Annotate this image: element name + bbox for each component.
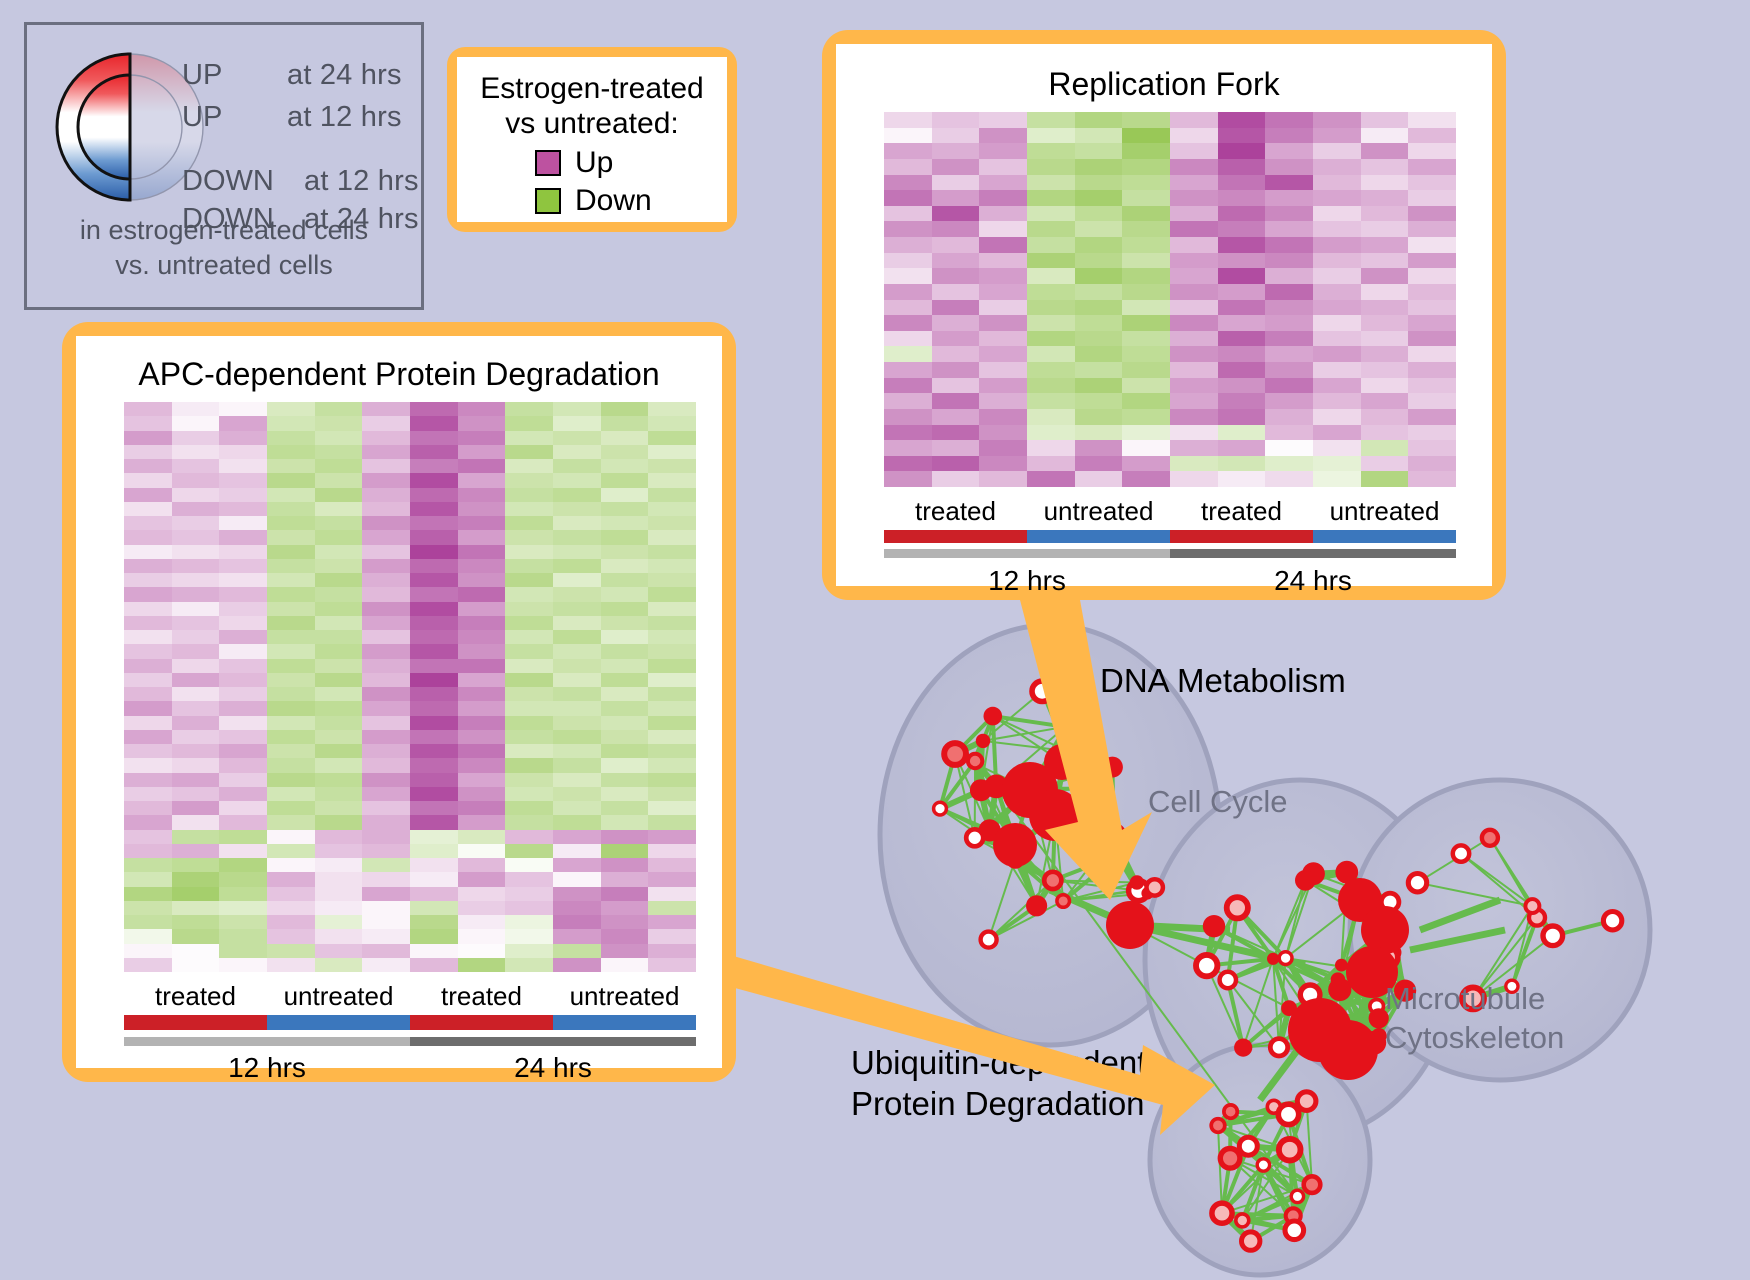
heatmap-cell — [505, 445, 553, 459]
network-node[interactable] — [1147, 879, 1163, 895]
heatmap-cell — [505, 473, 553, 487]
heatmap-cell — [1170, 409, 1218, 425]
heatmap-cell — [124, 801, 172, 815]
heatmap-cell — [553, 616, 601, 630]
heatmap-cell — [315, 758, 363, 772]
network-node[interactable] — [1044, 872, 1061, 889]
heatmap-cell — [315, 516, 363, 530]
heatmap-cell — [267, 830, 315, 844]
heatmap-cell — [884, 393, 932, 409]
time-bar-12hrs — [884, 549, 1170, 558]
heatmap-cell — [124, 545, 172, 559]
network-node[interactable] — [1203, 915, 1225, 937]
heatmap-cell — [172, 630, 220, 644]
heatmap-cell — [362, 887, 410, 901]
condition-colorbar-replication-fork — [884, 530, 1456, 543]
heatmap-cell — [219, 644, 267, 658]
heatmap-cell — [601, 929, 649, 943]
network-node[interactable] — [1279, 952, 1292, 965]
heatmap-cell — [601, 815, 649, 829]
heatmap-cell — [219, 602, 267, 616]
network-node[interactable] — [1078, 780, 1094, 796]
heatmap-cell — [601, 644, 649, 658]
heatmap-cell — [458, 730, 506, 744]
heatmap-cell — [553, 659, 601, 673]
network-node[interactable] — [1236, 1214, 1249, 1227]
heatmap-cell — [979, 362, 1027, 378]
heatmap-cell — [267, 744, 315, 758]
network-node[interactable] — [944, 743, 966, 765]
network-node[interactable] — [1525, 899, 1539, 913]
condition-bar-untreated — [553, 1015, 696, 1030]
heatmap-cell — [648, 431, 696, 445]
heatmap-cell — [505, 659, 553, 673]
heatmap-cell — [648, 545, 696, 559]
network-node[interactable] — [1285, 1221, 1304, 1240]
network-node[interactable] — [934, 802, 947, 815]
heatmap-cell — [1027, 159, 1075, 175]
heatmap-cell — [362, 673, 410, 687]
heatmap-cell — [1361, 409, 1409, 425]
heatmap-cell — [458, 502, 506, 516]
heatmap-cell — [410, 630, 458, 644]
heatmap-cell — [315, 502, 363, 516]
heatmap-cell — [505, 488, 553, 502]
heatmap-cell — [1361, 190, 1409, 206]
heatmap-cell — [1361, 221, 1409, 237]
heatmap-cell — [553, 773, 601, 787]
heatmap-cell — [315, 730, 363, 744]
heatmap-cell — [648, 944, 696, 958]
heatmap-cell — [410, 473, 458, 487]
heatmap-cell — [458, 901, 506, 915]
condition-colorbar-apc — [124, 1015, 696, 1030]
network-node[interactable] — [1026, 895, 1047, 916]
heatmap-cell — [458, 830, 506, 844]
heatmap-cell — [1265, 300, 1313, 316]
heatmap-cell — [505, 730, 553, 744]
network-node[interactable] — [1239, 1137, 1257, 1155]
network-node[interactable] — [993, 823, 1037, 867]
heatmap-cell — [362, 545, 410, 559]
heatmap-cell — [315, 872, 363, 886]
network-node[interactable] — [1029, 789, 1081, 841]
heatmap-cell — [315, 587, 363, 601]
heatmap-cell — [1170, 456, 1218, 472]
heatmap-cell — [458, 459, 506, 473]
heatmap-cell — [1027, 284, 1075, 300]
heatmap-cell — [884, 143, 932, 159]
heatmap-cell — [553, 602, 601, 616]
heatmap-cell — [979, 253, 1027, 269]
network-node[interactable] — [1057, 719, 1073, 735]
heatmap-cell — [315, 716, 363, 730]
network-node[interactable] — [1295, 870, 1316, 891]
network-node[interactable] — [1044, 744, 1080, 780]
heatmap-cell — [648, 701, 696, 715]
heatmap-cell — [172, 431, 220, 445]
heatmap-cell — [267, 616, 315, 630]
heatmap-cell — [267, 872, 315, 886]
heatmap-cell — [362, 602, 410, 616]
heatmap-cell — [172, 716, 220, 730]
heatmap-cell — [172, 488, 220, 502]
network-node[interactable] — [1267, 953, 1279, 965]
heatmap-cell — [553, 530, 601, 544]
heatmap-cell — [172, 787, 220, 801]
heatmap-cell — [1265, 143, 1313, 159]
color-key-footer-line2: vs. untreated cells — [27, 248, 421, 283]
heatmap-cell — [932, 112, 980, 128]
heatmap-cell — [315, 445, 363, 459]
heatmap-cell — [979, 268, 1027, 284]
network-node[interactable] — [1242, 1232, 1260, 1250]
heatmap-cell — [410, 730, 458, 744]
network-node[interactable] — [1220, 972, 1236, 988]
heatmap-cell — [1265, 425, 1313, 441]
network-node[interactable] — [1278, 1104, 1298, 1124]
heatmap-cell — [219, 858, 267, 872]
heatmap-cell — [219, 402, 267, 416]
heatmap-cell — [410, 701, 458, 715]
heatmap-cell — [932, 253, 980, 269]
network-node[interactable] — [1318, 1020, 1378, 1080]
heatmap-cell — [601, 630, 649, 644]
network-node[interactable] — [1108, 845, 1128, 865]
heatmap-cell — [505, 758, 553, 772]
heatmap-cell — [1265, 331, 1313, 347]
network-node[interactable] — [1057, 895, 1070, 908]
swatch-up-icon — [535, 150, 561, 176]
time-labels-replication-fork: 12 hrs 24 hrs — [884, 565, 1456, 597]
heatmap-cell — [932, 425, 980, 441]
heatmap-cell — [219, 701, 267, 715]
heatmap-cell — [219, 516, 267, 530]
heatmap-cell — [219, 730, 267, 744]
heatmap-cell — [1218, 284, 1266, 300]
heatmap-cell — [648, 801, 696, 815]
heatmap-cell — [410, 801, 458, 815]
heatmap-cell — [932, 393, 980, 409]
network-node[interactable] — [1106, 901, 1154, 949]
heatmap-cell — [172, 416, 220, 430]
heatmap-cell — [1408, 456, 1456, 472]
heatmap-cell — [1361, 284, 1409, 300]
heatmap-cell — [601, 730, 649, 744]
heatmap-cell — [124, 687, 172, 701]
heatmap-cell — [601, 516, 649, 530]
heatmap-cell — [410, 958, 458, 972]
heatmap-cell — [505, 673, 553, 687]
heatmap-cell — [932, 237, 980, 253]
heatmap-cell — [505, 416, 553, 430]
heatmap-cell — [601, 858, 649, 872]
heatmap-cell — [553, 929, 601, 943]
heatmap-cell — [219, 488, 267, 502]
heatmap-cell — [410, 573, 458, 587]
heatmap-cell — [315, 530, 363, 544]
heatmap-cell — [219, 431, 267, 445]
heatmap-cell — [1265, 190, 1313, 206]
network-node[interactable] — [968, 754, 982, 768]
heatmap-cell — [932, 128, 980, 144]
heatmap-cell — [315, 844, 363, 858]
heatmap-cell — [979, 409, 1027, 425]
heatmap-cell — [1027, 346, 1075, 362]
heatmap-cell — [315, 701, 363, 715]
legend-label-down: Down — [575, 184, 652, 218]
heatmap-cell — [267, 958, 315, 972]
condition-bar-treated — [410, 1015, 553, 1030]
heatmap-cell — [267, 402, 315, 416]
network-node[interactable] — [1102, 757, 1123, 778]
heatmap-cell — [1408, 253, 1456, 269]
heatmap-cell — [172, 730, 220, 744]
heatmap-cell — [267, 701, 315, 715]
network-node[interactable] — [1257, 1159, 1269, 1171]
heatmap-cell — [410, 431, 458, 445]
network-node[interactable] — [1304, 1176, 1321, 1193]
heatmap-cell — [315, 630, 363, 644]
pathway-network-diagram — [800, 600, 1750, 1280]
heatmap-cell — [1027, 300, 1075, 316]
heatmap-cell — [410, 758, 458, 772]
heatmap-cell — [219, 773, 267, 787]
heatmap-cell — [1408, 175, 1456, 191]
heatmap-cell — [219, 659, 267, 673]
heatmap-cell — [1218, 300, 1266, 316]
heatmap-cell — [553, 644, 601, 658]
heatmap-cell — [505, 530, 553, 544]
heatmap-cell — [505, 644, 553, 658]
network-node[interactable] — [1104, 825, 1124, 845]
network-node[interactable] — [1482, 830, 1498, 846]
heatmap-cell — [1170, 346, 1218, 362]
heatmap-cell — [1265, 440, 1313, 456]
heatmap-cell — [1265, 237, 1313, 253]
network-node[interactable] — [1453, 845, 1469, 861]
heatmap-cell — [172, 744, 220, 758]
network-node[interactable] — [1603, 912, 1621, 930]
network-node[interactable] — [1297, 1092, 1316, 1111]
heatmap-cell — [219, 758, 267, 772]
heatmap-cell — [979, 300, 1027, 316]
heatmap-cell — [553, 801, 601, 815]
heatmap-cell — [884, 456, 932, 472]
network-node[interactable] — [984, 707, 1003, 726]
heatmap-cell — [1265, 456, 1313, 472]
heatmap-cell — [458, 701, 506, 715]
panel-title-apc-degradation: APC-dependent Protein Degradation — [76, 356, 722, 393]
network-node[interactable] — [1212, 1203, 1232, 1223]
heatmap-cell — [979, 190, 1027, 206]
heatmap-cell — [553, 730, 601, 744]
heatmap-cell — [505, 687, 553, 701]
network-node[interactable] — [1211, 1119, 1225, 1133]
heatmap-cell — [219, 915, 267, 929]
heatmap-cell — [1361, 112, 1409, 128]
heatmap-cell — [553, 915, 601, 929]
network-node[interactable] — [1234, 1039, 1252, 1057]
heatmap-cell — [410, 687, 458, 701]
heatmap-cell — [1313, 284, 1361, 300]
heatmap-cell — [124, 473, 172, 487]
network-node[interactable] — [976, 734, 990, 748]
network-node[interactable] — [1130, 875, 1144, 889]
heatmap-cell — [932, 175, 980, 191]
heatmap-cell — [1408, 471, 1456, 487]
heatmap-cell — [362, 530, 410, 544]
heatmap-cell — [1075, 378, 1123, 394]
heatmap-cell — [458, 773, 506, 787]
heatmap-cell — [601, 488, 649, 502]
heatmap-cell — [362, 929, 410, 943]
heatmap-cell — [458, 616, 506, 630]
condition-bar-treated — [124, 1015, 267, 1030]
heatmap-cell — [410, 587, 458, 601]
heatmap-cell — [124, 744, 172, 758]
network-node[interactable] — [970, 779, 992, 801]
updown-legend-title: Estrogen-treated vs untreated: — [473, 71, 711, 142]
heatmap-cell — [124, 787, 172, 801]
heatmap-cell — [505, 716, 553, 730]
heatmap-cell — [1027, 128, 1075, 144]
time-bar-24hrs — [410, 1037, 696, 1046]
heatmap-cell — [267, 758, 315, 772]
heatmap-cell — [1027, 425, 1075, 441]
heatmap-cell — [219, 473, 267, 487]
heatmap-cell — [601, 915, 649, 929]
heatmap-cell — [884, 206, 932, 222]
heatmap-cell — [315, 773, 363, 787]
heatmap-cell — [267, 488, 315, 502]
heatmap-cell — [362, 815, 410, 829]
heatmap-cell — [648, 573, 696, 587]
heatmap-cell — [932, 221, 980, 237]
heatmap-cell — [362, 801, 410, 815]
heatmap-cell — [1075, 190, 1123, 206]
network-node[interactable] — [1335, 959, 1348, 972]
heatmap-cell — [410, 545, 458, 559]
time-label-12hrs: 12 hrs — [124, 1052, 410, 1084]
heatmap-cell — [1170, 315, 1218, 331]
heatmap-cell — [124, 844, 172, 858]
key-word-1: UP — [182, 101, 222, 134]
heatmap-cell — [315, 801, 363, 815]
heatmap-cell — [884, 128, 932, 144]
heatmap-cell — [648, 630, 696, 644]
heatmap-cell — [648, 844, 696, 858]
network-node[interactable] — [981, 932, 997, 948]
heatmap-cell — [601, 716, 649, 730]
heatmap-cell — [979, 378, 1027, 394]
heatmap-cell — [648, 773, 696, 787]
heatmap-cell — [362, 701, 410, 715]
heatmap-cell — [648, 815, 696, 829]
heatmap-cell — [553, 630, 601, 644]
heatmap-cell — [315, 473, 363, 487]
heatmap-cell — [1170, 190, 1218, 206]
heatmap-cell — [601, 659, 649, 673]
heatmap-cell — [505, 402, 553, 416]
heatmap-cell — [172, 858, 220, 872]
heatmap-cell — [1218, 112, 1266, 128]
heatmap-cell — [362, 445, 410, 459]
heatmap-cell — [1313, 128, 1361, 144]
heatmap-cell — [124, 958, 172, 972]
heatmap-cell — [219, 459, 267, 473]
heatmap-cell — [410, 773, 458, 787]
heatmap-cell — [1122, 440, 1170, 456]
heatmap-cell — [172, 929, 220, 943]
heatmap-cell — [1408, 112, 1456, 128]
network-node[interactable] — [1032, 681, 1052, 701]
heatmap-cell — [1170, 300, 1218, 316]
key-word-2: DOWN — [182, 165, 274, 198]
heatmap-cell — [1170, 175, 1218, 191]
heatmap-cell — [884, 409, 932, 425]
heatmap-cell — [458, 958, 506, 972]
heatmap-cell — [1361, 143, 1409, 159]
heatmap-cell — [1408, 206, 1456, 222]
heatmap-cell — [458, 559, 506, 573]
heatmap-cell — [884, 346, 932, 362]
network-node[interactable] — [966, 829, 983, 846]
heatmap-cell — [458, 416, 506, 430]
heatmap-cell — [932, 362, 980, 378]
heatmap-cell — [124, 530, 172, 544]
heatmap-cell — [1408, 190, 1456, 206]
heatmap-cell — [601, 459, 649, 473]
heatmap-cell — [601, 701, 649, 715]
heatmap-cell — [124, 716, 172, 730]
heatmap-cell — [648, 830, 696, 844]
network-node[interactable] — [1196, 955, 1217, 976]
heatmap-cell — [267, 730, 315, 744]
heatmap-cell — [267, 630, 315, 644]
network-node[interactable] — [1408, 874, 1426, 892]
heatmap-cell — [505, 459, 553, 473]
network-node[interactable] — [1227, 897, 1248, 918]
heatmap-cell — [553, 416, 601, 430]
heatmap-cell — [648, 744, 696, 758]
heatmap-cell — [553, 716, 601, 730]
heatmap-cell — [979, 331, 1027, 347]
network-node[interactable] — [1270, 1039, 1287, 1056]
network-node[interactable] — [1291, 1190, 1303, 1202]
heatmap-cell — [458, 431, 506, 445]
heatmap-cell — [124, 502, 172, 516]
heatmap-apc-degradation — [124, 402, 696, 972]
heatmap-cell — [172, 644, 220, 658]
heatmap-cell — [172, 659, 220, 673]
network-node[interactable] — [1543, 926, 1563, 946]
network-node[interactable] — [1220, 1149, 1240, 1169]
heatmap-cell — [315, 673, 363, 687]
heatmap-cell — [1265, 128, 1313, 144]
heatmap-cell — [124, 815, 172, 829]
heatmap-cell — [124, 516, 172, 530]
heatmap-cell — [1122, 456, 1170, 472]
heatmap-cell — [410, 901, 458, 915]
heatmap-cell — [458, 644, 506, 658]
heatmap-cell — [505, 801, 553, 815]
color-key-box: UP at 24 hrs UP at 12 hrs DOWN at 12 hrs… — [24, 22, 424, 310]
heatmap-cell — [932, 378, 980, 394]
heatmap-cell — [601, 602, 649, 616]
network-node[interactable] — [1279, 1139, 1301, 1161]
network-node[interactable] — [1224, 1105, 1237, 1118]
